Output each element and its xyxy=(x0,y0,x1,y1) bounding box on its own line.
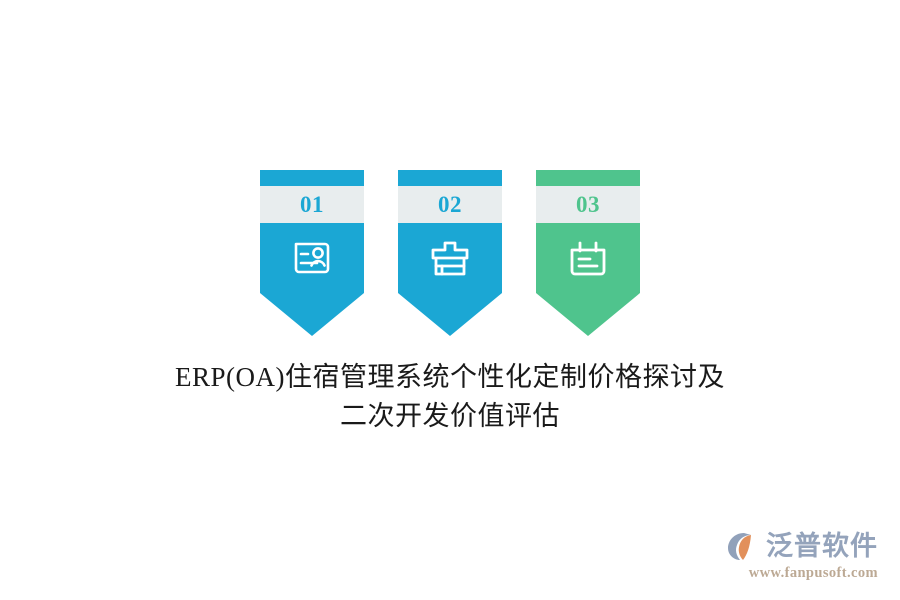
ribbon-cap xyxy=(398,170,502,186)
ribbon-number-label: 01 xyxy=(300,193,324,216)
poster-canvas: 01 02 xyxy=(0,0,900,600)
brand-watermark: 泛普软件 www.fanpusoft.com xyxy=(710,528,878,586)
ribbon-body xyxy=(536,223,640,336)
storefront-icon xyxy=(398,241,502,277)
ribbon-body xyxy=(398,223,502,336)
brand-name-label: 泛普软件 xyxy=(766,533,878,560)
brand-url-label: www.fanpusoft.com xyxy=(710,565,878,582)
fanpu-swoosh-logo-icon xyxy=(727,530,761,562)
page-title-line-2: 二次开发价值评估 xyxy=(0,397,900,436)
page-title: ERP(OA)住宿管理系统个性化定制价格探讨及 二次开发价值评估 xyxy=(0,358,900,436)
calendar-note-icon xyxy=(536,241,640,277)
ribbon-number-label: 03 xyxy=(576,193,600,216)
brand-logo-row: 泛普软件 xyxy=(710,528,878,564)
contact-card-icon xyxy=(260,241,364,275)
ribbon-item-02[interactable]: 02 xyxy=(398,170,502,336)
ribbon-number-label: 02 xyxy=(438,193,462,216)
ribbon-item-03[interactable]: 03 xyxy=(536,170,640,336)
ribbon-body xyxy=(260,223,364,336)
ribbon-cap xyxy=(536,170,640,186)
ribbon-number-band: 01 xyxy=(260,186,364,223)
ribbon-cap xyxy=(260,170,364,186)
ribbon-number-band: 03 xyxy=(536,186,640,223)
ribbon-number-band: 02 xyxy=(398,186,502,223)
ribbon-group: 01 02 xyxy=(0,170,900,338)
page-title-line-1: ERP(OA)住宿管理系统个性化定制价格探讨及 xyxy=(0,358,900,397)
ribbon-item-01[interactable]: 01 xyxy=(260,170,364,336)
